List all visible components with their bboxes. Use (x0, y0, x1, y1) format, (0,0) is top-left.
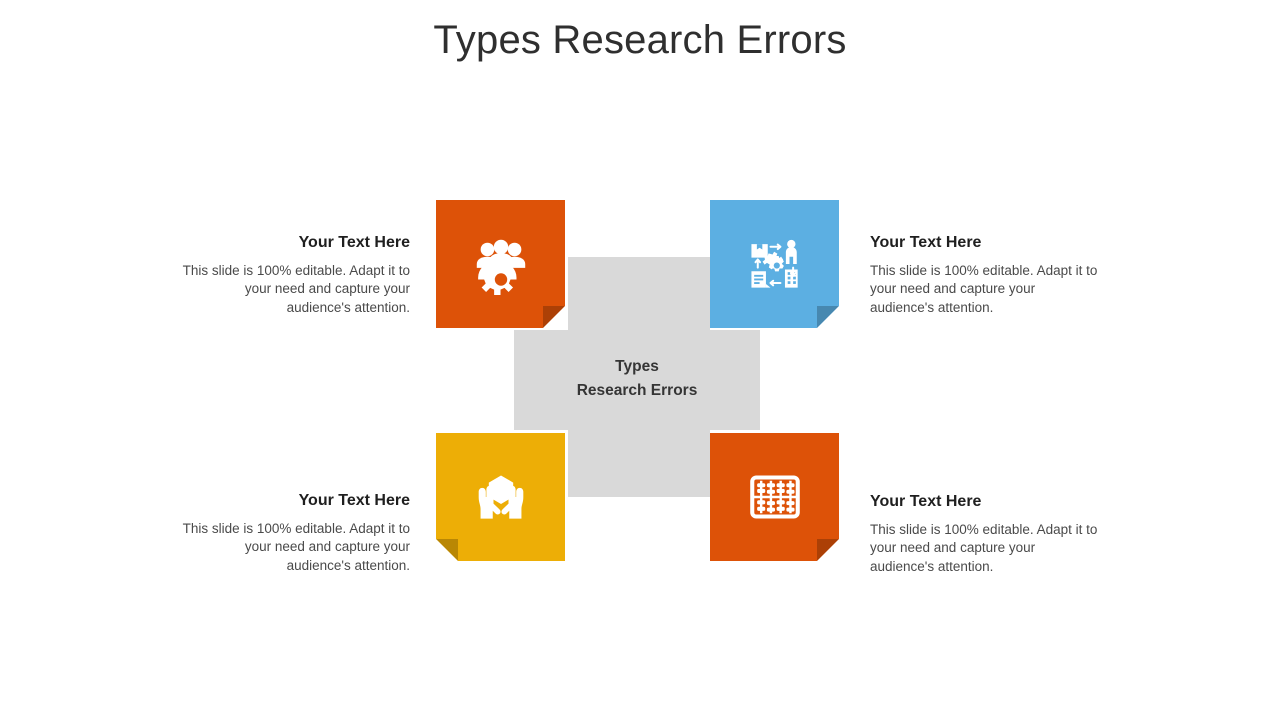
text-block-bottom-right-heading: Your Text Here (870, 492, 1102, 511)
center-label: Types Research Errors (514, 355, 760, 402)
card-top-right[interactable] (710, 200, 839, 328)
text-block-top-left: Your Text Here This slide is 100% editab… (178, 233, 410, 317)
card-bottom-left[interactable] (436, 433, 565, 561)
hands-hexagon-icon (436, 433, 565, 561)
text-block-top-left-body: This slide is 100% editable. Adapt it to… (178, 262, 410, 317)
center-label-line1: Types (514, 355, 760, 379)
text-block-top-right-heading: Your Text Here (870, 233, 1102, 252)
text-block-top-left-heading: Your Text Here (178, 233, 410, 252)
abacus-icon (710, 433, 839, 561)
text-block-bottom-right: Your Text Here This slide is 100% editab… (870, 492, 1102, 576)
text-block-top-right: Your Text Here This slide is 100% editab… (870, 233, 1102, 317)
text-block-bottom-left-heading: Your Text Here (178, 491, 410, 510)
people-gear-icon (436, 200, 565, 328)
process-flow-gear-icon (710, 200, 839, 328)
card-top-left[interactable] (436, 200, 565, 328)
center-label-line2: Research Errors (514, 379, 760, 403)
text-block-bottom-left: Your Text Here This slide is 100% editab… (178, 491, 410, 575)
text-block-bottom-right-body: This slide is 100% editable. Adapt it to… (870, 521, 1102, 576)
page-title: Types Research Errors (0, 16, 1280, 64)
text-block-top-right-body: This slide is 100% editable. Adapt it to… (870, 262, 1102, 317)
card-bottom-right[interactable] (710, 433, 839, 561)
text-block-bottom-left-body: This slide is 100% editable. Adapt it to… (178, 520, 410, 575)
